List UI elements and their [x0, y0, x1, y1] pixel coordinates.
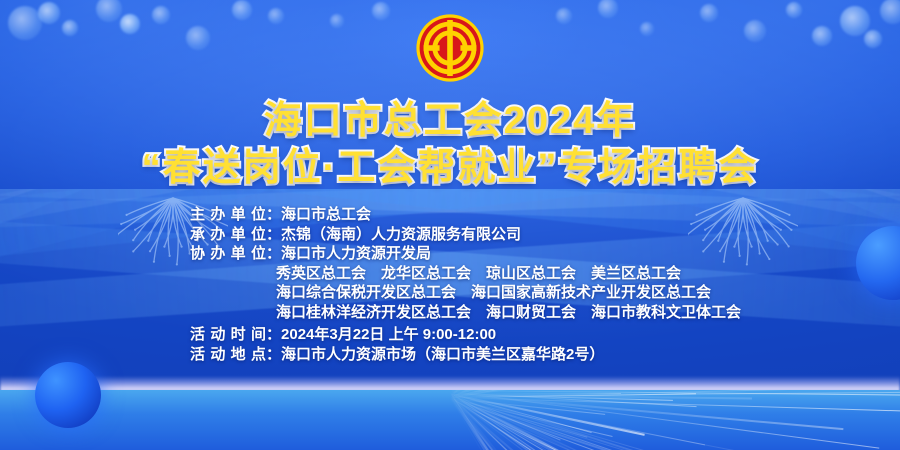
info-row-event-location: 活动地点 ： 海口市人力资源市场（海口市美兰区嘉华路2号）: [190, 345, 741, 365]
info-value: 杰锦（海南）人力资源服务有限公司: [281, 225, 521, 245]
info-colon: ：: [266, 325, 281, 345]
info-value: 海口市总工会: [281, 205, 371, 225]
info-value: 海口市人力资源市场（海口市美兰区嘉华路2号）: [281, 345, 604, 365]
info-row-co-organizer: 协办单位 ： 海口市人力资源开发局: [190, 244, 741, 264]
co-organizer-line-2: 海口综合保税开发区总工会 海口国家高新技术产业开发区总工会: [276, 283, 741, 303]
info-colon: ：: [266, 345, 281, 365]
info-label: 协办单位: [190, 244, 266, 264]
info-row-organizer: 主办单位 ： 海口市总工会: [190, 205, 741, 225]
co-organizer-line-3: 海口桂林洋经济开发区总工会 海口财贸工会 海口市教科文卫体工会: [276, 303, 741, 323]
info-label: 承办单位: [190, 225, 266, 245]
info-colon: ：: [266, 205, 281, 225]
acftu-union-emblem: [410, 8, 490, 88]
info-value: 海口市人力资源开发局: [281, 244, 431, 264]
info-label: 活动地点: [190, 345, 266, 365]
info-colon: ：: [266, 225, 281, 245]
info-colon: ：: [266, 244, 281, 264]
title-line-1: 海口市总工会2024年: [0, 100, 900, 143]
poster-title-block: 海口市总工会2024年 “春送岗位·工会帮就业”专场招聘会: [0, 100, 900, 191]
info-label: 主办单位: [190, 205, 266, 225]
info-value: 2024年3月22日 上午 9:00-12:00: [281, 325, 496, 345]
title-line-2: “春送岗位·工会帮就业”专场招聘会: [0, 147, 900, 190]
recruitment-poster: 海口市总工会2024年 “春送岗位·工会帮就业”专场招聘会 主办单位 ： 海口市…: [0, 0, 900, 450]
info-block: 主办单位 ： 海口市总工会 承办单位 ： 杰锦（海南）人力资源服务有限公司 协办…: [190, 205, 741, 365]
perspective-speed-lines: [0, 390, 900, 450]
info-row-undertaker: 承办单位 ： 杰锦（海南）人力资源服务有限公司: [190, 225, 741, 245]
info-row-event-time: 活动时间 ： 2024年3月22日 上午 9:00-12:00: [190, 325, 741, 345]
decorative-sphere-left: [35, 362, 101, 428]
co-organizer-line-1: 秀英区总工会 龙华区总工会 琼山区总工会 美兰区总工会: [276, 264, 741, 284]
info-label: 活动时间: [190, 325, 266, 345]
